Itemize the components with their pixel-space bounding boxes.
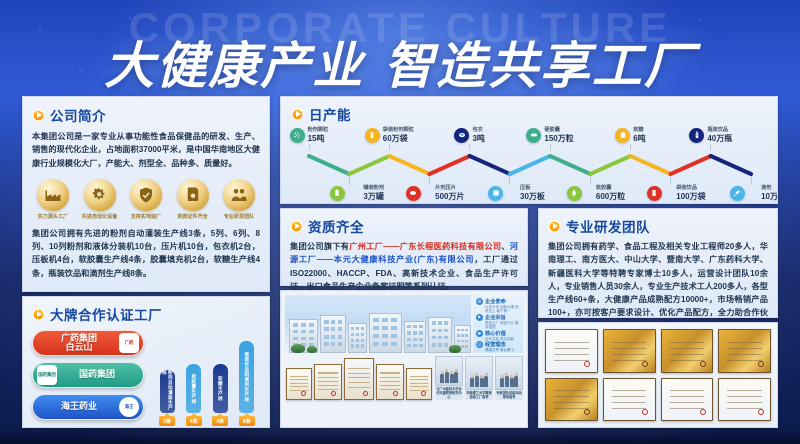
team-photo-3: 专家团队莅临车间现场指导 (495, 356, 523, 400)
capacity-node-text: 压板30万板 (520, 184, 545, 202)
bar: 粉剂自动灌装生产线 (160, 370, 175, 413)
tablet-icon (406, 186, 421, 201)
window (419, 344, 423, 347)
capacity-node-12: 滴剂10万瓶 (716, 176, 778, 202)
certificate-text-line (554, 348, 588, 349)
person-figure (514, 376, 518, 387)
connector-line (309, 144, 310, 150)
building-block (348, 323, 367, 353)
bar-value-badge: 4条 (186, 416, 202, 426)
window (465, 334, 468, 337)
partner-name: 广药集团白云山 (39, 334, 119, 353)
compass-icon (476, 341, 483, 348)
certificate-6[interactable] (603, 378, 656, 422)
partner-name: 国药集团 (57, 370, 137, 379)
certificate-seal-icon (700, 361, 706, 367)
bar: 软糖生产线 (213, 364, 228, 413)
window (373, 342, 379, 346)
company-intro-header: 公司简介 (32, 105, 260, 125)
capacity-node-label: 罐装粉剂 (363, 184, 384, 191)
brand-partners-header: 大牌合作认证工厂 (32, 304, 260, 324)
feature-icon-label: 支持实地验厂 (125, 213, 167, 220)
capacity-node-text: 硬胶囊150万粒 (544, 126, 573, 144)
blister-icon (488, 186, 503, 201)
window (432, 321, 436, 325)
cert-seal-icon (363, 391, 368, 396)
certificate-text-line (554, 354, 588, 355)
window (465, 329, 468, 332)
cert-seal-icon (421, 391, 426, 396)
cert-text-line (348, 382, 369, 383)
feature-icon-5: 专业研发团队 (218, 179, 260, 220)
person-figure (450, 374, 454, 383)
window (413, 338, 417, 341)
connector-line (670, 176, 671, 184)
window (407, 331, 411, 334)
heart-hand-icon (476, 330, 483, 337)
value-text: 核心价值合作共赢 务实创新 (485, 330, 514, 341)
partner-pill-1[interactable]: 广药广药集团白云山 (32, 330, 144, 356)
connector-line (550, 144, 551, 150)
window (373, 318, 379, 322)
tree (291, 344, 305, 353)
capacity-node-label: 硬胶囊 (544, 126, 573, 133)
cert-text-line (348, 377, 369, 378)
connector-line (429, 176, 430, 184)
window (444, 336, 448, 340)
window (361, 327, 364, 330)
certificate-text-line (612, 396, 646, 397)
window (438, 329, 442, 333)
connector-line (630, 144, 631, 150)
play-arrow-icon (548, 220, 561, 233)
bar-column-1: 粉剂自动灌装生产线3条 (158, 370, 177, 426)
certificate-text-line (670, 402, 704, 403)
value-text: 经营理念健康共享 事业腾飞 (485, 341, 514, 352)
window (356, 344, 359, 347)
certificate-text-line (727, 348, 761, 349)
person-figure (475, 376, 479, 387)
window (324, 342, 328, 346)
capacity-node-text: 罐装粉剂3万罐 (363, 184, 384, 202)
framed-certificate-1 (286, 368, 312, 400)
connector-line (509, 176, 510, 184)
cert-text-line (318, 372, 338, 373)
value-title: 企业使命 (485, 298, 520, 305)
feature-icon-row: 实力源头工厂先进自动化设备支持实地验厂资质证件齐全专业研发团队 (32, 179, 260, 220)
certificate-8[interactable] (718, 378, 771, 422)
capacity-node-head: 压板30万板 (475, 184, 545, 202)
capacity-node-label: 包衣 (472, 126, 484, 133)
window (382, 334, 388, 338)
partner-logo-icon: 国药集团 (37, 365, 57, 385)
window (444, 329, 448, 333)
certificate-7[interactable] (661, 378, 714, 422)
equipment-paragraph: 集团公司拥有先进的粉剂自动灌装生产线3条，5列、6列、8列、10列粉剂和液体分装… (32, 227, 260, 280)
cert-seal-icon (393, 391, 398, 396)
capacity-node-head: 瓶装饮品40万瓶 (689, 126, 732, 144)
cert-text-line (380, 381, 400, 382)
window (331, 335, 335, 339)
certificate-inner (721, 332, 769, 371)
building-block (369, 313, 402, 353)
footer-gradient (0, 428, 800, 444)
window (361, 339, 364, 342)
window (351, 333, 354, 336)
window (351, 344, 354, 347)
cert-text-line (318, 381, 338, 382)
person-figure (505, 376, 509, 387)
capacity-node-8: 软胶囊600万粒 (555, 176, 625, 202)
window (432, 329, 436, 333)
certificate-4[interactable] (718, 329, 771, 373)
cert-text-line (318, 377, 338, 378)
certificate-text-line (727, 360, 761, 361)
daily-capacity-header: 日产能 (291, 104, 767, 124)
capacity-node-head: 硬胶囊150万粒 (526, 126, 573, 144)
factory-photo-card: 企业使命以技为本 创新为魂 品质至上 客户第一企业宗旨质量立厂 诚信兴业 服务强… (280, 290, 528, 428)
capacity-node-head: 袋装饮品100万袋 (636, 184, 706, 202)
poster-headline: 大健康产业 智造共享工厂 (0, 26, 800, 98)
capacity-node-label: 软胶囊 (596, 184, 625, 191)
rd-team-paragraph: 集团公司拥有药学、食品工程及相关专业工程师20多人，华南理工、南方医大、中山大学… (548, 240, 768, 333)
window (438, 343, 442, 347)
capacity-node-7: 硬胶囊150万粒 (515, 126, 585, 150)
hard-capsule-icon (526, 128, 541, 143)
window (331, 327, 335, 331)
certificate-inner (548, 380, 596, 419)
cert-text-line (380, 372, 400, 373)
cert-text-line (410, 376, 428, 377)
value-item-4: 经营理念健康共享 事业腾飞 (476, 341, 520, 352)
play-arrow-icon (32, 109, 45, 122)
window (419, 331, 423, 334)
window (382, 326, 388, 330)
framed-certificate-2 (314, 364, 342, 400)
window (301, 330, 306, 334)
certificate-text-line (554, 408, 588, 409)
poster-canvas: CORPORATE CULTURE 大健康产业 智造共享工厂 公司简介 本集团公… (0, 0, 800, 444)
window (309, 323, 314, 327)
window (461, 345, 464, 348)
certificate-3[interactable] (661, 329, 714, 373)
window (444, 321, 448, 325)
daily-capacity-card: 日产能 粉剂颗粒15吨罐装粉剂3万罐袋装粉剂颗粒60万袋片剂压片500万片包衣3… (280, 96, 778, 204)
bar-label: 软糖生产线 (217, 376, 223, 401)
qualification-header: 资质齐全 (290, 216, 518, 236)
capacity-node-1: 粉剂颗粒15吨 (280, 126, 344, 150)
certificate-1[interactable] (545, 329, 598, 373)
factory-guangzhou: 广州工厂——广东长程医药科技有限公司 (349, 242, 501, 251)
certificate-photo-row: 与广州医科大学合作共建药物研究中心华南理工大学教授莅临工厂指导专家团队莅临车间现… (285, 356, 523, 400)
connector-line (469, 144, 470, 150)
certificate-inner (605, 380, 653, 419)
feature-icon-2: 先进自动化设备 (79, 179, 121, 220)
framed-certificate-3 (344, 358, 374, 400)
window (361, 333, 364, 336)
value-text: 企业宗旨质量立厂 诚信兴业 服务强国 (485, 314, 520, 330)
daily-capacity-title: 日产能 (309, 104, 351, 124)
person-figure (480, 378, 484, 387)
window (457, 334, 460, 337)
qualification-paragraph: 集团公司旗下有广州工厂——广东长程医药科技有限公司、河源工厂——本元大健康科技产… (290, 240, 518, 293)
capacity-node-3: 袋装粉剂颗粒60万袋 (354, 126, 424, 150)
brand-partners-card: 大牌合作认证工厂 广药广药集团白云山国药集团国药集团海王海王药业 粉剂自动灌装生… (22, 296, 270, 428)
company-intro-paragraph: 本集团公司是一家专业从事功能性食品保健品的研发、生产、销售的现代化企业，占地面积… (32, 130, 260, 170)
team-photo-image (495, 356, 523, 390)
window (413, 331, 417, 334)
window (373, 326, 379, 330)
feature-icon-3: 支持实地验厂 (125, 179, 167, 220)
capacity-node-text: 包衣3吨 (472, 126, 484, 144)
cert-text-line (410, 386, 428, 387)
gears-icon (84, 179, 116, 211)
window (301, 323, 306, 327)
rd-team-title: 专业研发团队 (566, 216, 650, 236)
feature-icon-label: 实力源头工厂 (32, 213, 74, 220)
capacity-node-text: 滴剂10万瓶 (761, 184, 778, 202)
window (413, 344, 417, 347)
capacity-node-text: 软胶囊600万粒 (596, 184, 625, 202)
cert-text-line (380, 377, 400, 378)
brand-partners-title: 大牌合作认证工厂 (50, 304, 162, 324)
window (324, 335, 328, 339)
partner-name: 海王药业 (39, 402, 119, 411)
cert-text-line (318, 389, 338, 390)
building-block (404, 321, 426, 353)
cert-text-line (290, 379, 308, 380)
certificate-text-line (612, 402, 646, 403)
certificate-seal-icon (700, 409, 706, 415)
cert-text-line (318, 385, 338, 386)
capacity-node-value: 60万袋 (383, 133, 414, 144)
capacity-node-head: 罐装粉剂3万罐 (314, 184, 384, 202)
flag-icon (476, 314, 483, 321)
factory-icon (37, 179, 69, 211)
bar-column-2: 软胶囊生产线4条 (184, 364, 203, 426)
qualification-separator: 、 (501, 242, 509, 251)
capacity-node-text: 粉剂颗粒15吨 (308, 126, 329, 144)
coating-icon (454, 128, 469, 143)
certificate-text-line (670, 354, 704, 355)
certificate-seal-icon (758, 409, 764, 415)
window (331, 342, 335, 346)
cert-text-line (290, 386, 308, 387)
capacity-node-6: 压板30万板 (475, 176, 545, 202)
sachet-icon (365, 128, 380, 143)
cert-text-line (348, 368, 369, 369)
window (432, 336, 436, 340)
certificate-text-line (612, 354, 646, 355)
certificate-seal-icon (584, 409, 590, 415)
play-arrow-icon (291, 108, 304, 121)
window (293, 323, 298, 327)
capacity-node-label: 压板 (520, 184, 545, 191)
bar-label: 粉剂自动灌装生产线 (161, 370, 173, 413)
window (324, 320, 328, 324)
certificate-text-line (727, 342, 761, 343)
certificate-text-line (670, 390, 704, 391)
bar-label: 瓶装饮品和滴剂生产线 (244, 352, 250, 402)
window (361, 344, 364, 347)
capacity-node-value: 600万粒 (596, 191, 625, 202)
feature-icon-1: 实力源头工厂 (32, 179, 74, 220)
window (382, 318, 388, 322)
team-photo-caption: 专家团队莅临车间现场指导 (495, 390, 523, 400)
certificate-text-line (612, 360, 646, 361)
bar-label: 软胶囊生产线 (191, 374, 197, 404)
rd-team-card: 专业研发团队 集团公司拥有药学、食品工程及相关专业工程师20多人，华南理工、南方… (538, 208, 778, 318)
team-photo-2: 华南理工大学教授莅临工厂指导 (465, 356, 493, 400)
value-title: 企业宗旨 (485, 314, 520, 321)
cert-text-line (290, 383, 308, 384)
company-intro-card: 公司简介 本集团公司是一家专业从事功能性食品保健品的研发、生产、销售的现代化企业… (22, 96, 270, 292)
person-figure (470, 378, 474, 387)
certificate-inner (663, 332, 711, 371)
window (465, 345, 468, 348)
team-photo-image (435, 356, 463, 386)
partner-pill-3[interactable]: 海王海王药业 (32, 394, 144, 420)
connector-line (751, 176, 752, 184)
capacity-node-value: 500万片 (435, 191, 464, 202)
window (351, 327, 354, 330)
person-figure (454, 372, 458, 383)
certificate-inner (721, 380, 769, 419)
team-photo-caption: 与广州医科大学合作共建药物研究中心 (435, 386, 463, 400)
bar: 软胶囊生产线 (186, 364, 201, 413)
play-arrow-icon (290, 220, 303, 233)
capacity-node-value: 15吨 (308, 133, 329, 144)
capacity-node-label: 袋装粉剂颗粒 (383, 126, 414, 133)
capacity-node-text: 袋装饮品100万袋 (676, 184, 705, 202)
certificate-text-line (612, 348, 646, 349)
certificate-5[interactable] (545, 378, 598, 422)
tree (449, 345, 461, 353)
cert-seal-icon (301, 391, 306, 396)
certificate-text-line (612, 408, 646, 409)
window (338, 335, 342, 339)
certificate-seal-icon (758, 361, 764, 367)
capacity-node-head: 软胶囊600万粒 (555, 184, 625, 202)
window (461, 340, 464, 343)
capacity-node-head: 片剂压片500万片 (395, 184, 465, 202)
window (356, 333, 359, 336)
certificate-text-line (612, 342, 646, 343)
capacity-zigzag-chart: 粉剂颗粒15吨罐装粉剂3万罐袋装粉剂颗粒60万袋片剂压片500万片包衣3吨压板3… (291, 126, 767, 200)
window (301, 337, 306, 341)
capacity-node-label: 袋装饮品 (676, 184, 705, 191)
capacity-node-head: 软糖6吨 (615, 126, 645, 144)
brand-partners-body: 广药广药集团白云山国药集团国药集团海王海王药业 粉剂自动灌装生产线3条软胶囊生产… (32, 330, 260, 426)
window (438, 336, 442, 340)
window (373, 334, 379, 338)
cert-text-line (410, 379, 428, 380)
certificate-inner (548, 332, 596, 371)
feature-icon-label: 先进自动化设备 (79, 213, 121, 220)
team-icon (223, 179, 255, 211)
factory-photo-row: 企业使命以技为本 创新为魂 品质至上 客户第一企业宗旨质量立厂 诚信兴业 服务强… (285, 295, 523, 353)
certificate-text-line (727, 408, 761, 409)
team-photo-image (465, 356, 493, 390)
certificate-inner (663, 380, 711, 419)
can-icon (330, 186, 345, 201)
person-figure (484, 376, 488, 387)
person-figure (445, 372, 449, 383)
capacity-node-text: 软糖6吨 (633, 126, 645, 144)
window (338, 342, 342, 346)
bottle-icon (689, 128, 704, 143)
partner-pill-2[interactable]: 国药集团国药集团 (32, 362, 144, 388)
window (356, 339, 359, 342)
certificate-text-line (554, 342, 588, 343)
window (407, 344, 411, 347)
certificate-2[interactable] (603, 329, 656, 373)
window (391, 326, 397, 330)
certificate-grid-card (538, 322, 778, 428)
capacity-node-head: 袋装粉剂颗粒60万袋 (365, 126, 414, 144)
window (457, 329, 460, 332)
capacity-node-value: 100万袋 (676, 191, 705, 202)
rd-team-header: 专业研发团队 (548, 216, 768, 236)
value-desc: 以技为本 创新为魂 品质至上 客户第一 (485, 305, 520, 314)
cert-text-line (290, 376, 308, 377)
window (407, 325, 411, 328)
connector-line (590, 176, 591, 184)
feature-icon-label: 资质证件齐全 (172, 213, 214, 220)
certificate-text-line (727, 396, 761, 397)
capacity-node-value: 150万粒 (544, 133, 573, 144)
tree (307, 346, 317, 353)
value-desc: 健康共享 事业腾飞 (485, 348, 514, 352)
window (465, 340, 468, 343)
dropper-icon (730, 186, 745, 201)
value-item-3: 核心价值合作共赢 务实创新 (476, 330, 520, 341)
window (293, 337, 298, 341)
capacity-node-11: 瓶装饮品40万瓶 (676, 126, 746, 150)
certificate-text-line (554, 360, 588, 361)
window (413, 325, 417, 328)
bar-column-4: 瓶装饮品和滴剂生产线8条 (237, 341, 256, 426)
value-item-1: 企业使命以技为本 创新为魂 品质至上 客户第一 (476, 298, 520, 314)
person-figure (440, 374, 444, 383)
connector-line (389, 144, 390, 150)
certificate-text-line (612, 390, 646, 391)
gummy-icon (615, 128, 630, 143)
capacity-node-10: 袋装饮品100万袋 (636, 176, 706, 202)
shield-check-icon (130, 179, 162, 211)
capacity-node-label: 片剂压片 (435, 184, 464, 191)
window (391, 342, 397, 346)
capacity-node-text: 片剂压片500万片 (435, 184, 464, 202)
partner-logo-icon: 广药 (119, 333, 139, 353)
window (382, 342, 388, 346)
team-photo-thumbs: 与广州医科大学合作共建药物研究中心华南理工大学教授莅临工厂指导专家团队莅临车间现… (435, 356, 523, 400)
cert-text-line (380, 385, 400, 386)
team-photo-caption: 华南理工大学教授莅临工厂指导 (465, 390, 493, 400)
partner-logo-icon: 海王 (119, 397, 139, 417)
capacity-node-4: 片剂压片500万片 (395, 176, 465, 202)
capacity-node-label: 粉剂颗粒 (308, 126, 329, 133)
window (293, 330, 298, 334)
framed-certificate-4 (376, 364, 404, 400)
capacity-node-value: 6吨 (633, 133, 645, 144)
certificate-text-line (727, 402, 761, 403)
value-item-2: 企业宗旨质量立厂 诚信兴业 服务强国 (476, 314, 520, 330)
capacity-node-text: 袋装粉剂颗粒60万袋 (383, 126, 414, 144)
certificate-inner (605, 332, 653, 371)
window (461, 329, 464, 332)
play-arrow-icon (32, 308, 45, 321)
